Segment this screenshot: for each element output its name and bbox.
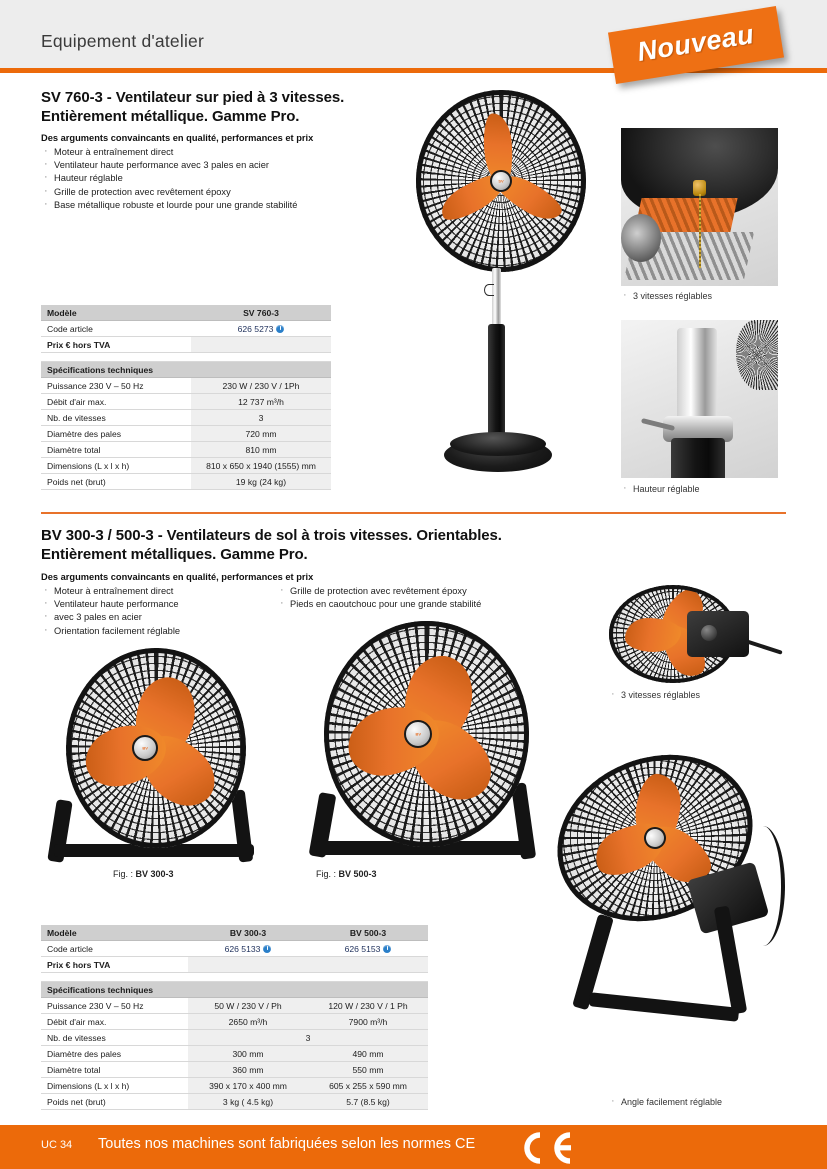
row-value: 360 mm xyxy=(188,1062,308,1078)
row-label: Puissance 230 V – 50 Hz xyxy=(41,998,188,1014)
row-value: 7900 m³/h xyxy=(308,1014,428,1030)
new-badge: Nouveau xyxy=(603,5,788,83)
row-value-price-2 xyxy=(308,957,428,973)
product-2-detail-caption-1: 3 vitesses réglables xyxy=(609,690,700,700)
info-icon[interactable] xyxy=(263,945,271,953)
table-header-model-1: BV 300-3 xyxy=(188,925,308,941)
row-label: Poids net (brut) xyxy=(41,1094,188,1110)
product-2-bullet-list-left: Moteur à entraînement direct Ventilateur… xyxy=(41,585,271,638)
list-item: Ventilateur haute performance avec 3 pal… xyxy=(41,159,391,172)
section-divider xyxy=(41,512,786,514)
table-row: Diamètre total 360 mm 550 mm xyxy=(41,1062,428,1078)
row-label: Diamètre des pales xyxy=(41,426,191,442)
fig-name: BV 300-3 xyxy=(136,869,174,879)
product-1-title-line1: SV 760-3 - Ventilateur sur pied à 3 vite… xyxy=(41,88,381,107)
row-value: 720 mm xyxy=(191,426,331,442)
product-1-bullet-list: Moteur à entraînement direct Ventilateur… xyxy=(41,146,391,212)
page-title: Equipement d'atelier xyxy=(41,31,204,52)
info-icon[interactable] xyxy=(276,325,284,333)
row-label: Puissance 230 V – 50 Hz xyxy=(41,378,191,394)
table-row: Code article 626 5273 xyxy=(41,321,331,337)
row-label-code: Code article xyxy=(41,941,188,957)
row-value: 19 kg (24 kg) xyxy=(191,474,331,490)
specs-heading-spacer-1 xyxy=(188,982,308,998)
table-header-label: Modèle xyxy=(41,925,188,941)
product-1-detail-photo-speed xyxy=(621,128,778,286)
table-row: Nb. de vitesses 3 xyxy=(41,1030,428,1046)
article-code: 626 5153 xyxy=(345,944,381,954)
product-2-fig-caption-1: Fig. : BV 300-3 xyxy=(113,869,174,879)
table-row: Diamètre des pales 300 mm 490 mm xyxy=(41,1046,428,1062)
list-item: Orientation facilement réglable xyxy=(41,625,271,638)
catalog-page: Equipement d'atelier Nouveau SV 760-3 - … xyxy=(0,0,827,1169)
table-row: Puissance 230 V – 50 Hz 50 W / 230 V / P… xyxy=(41,998,428,1014)
fig-prefix: Fig. : xyxy=(113,869,136,879)
table-row-spacer xyxy=(41,353,331,362)
row-label: Poids net (brut) xyxy=(41,474,191,490)
row-value: 120 W / 230 V / 1 Ph xyxy=(308,998,428,1014)
row-label: Nb. de vitesses xyxy=(41,1030,188,1046)
row-value: 50 W / 230 V / Ph xyxy=(188,998,308,1014)
row-label: Nb. de vitesses xyxy=(41,410,191,426)
table-row: Modèle SV 760-3 xyxy=(41,305,331,321)
row-value-price-1 xyxy=(191,337,331,353)
list-item: Grille de protection avec revêtement épo… xyxy=(41,186,391,199)
row-label: Débit d'air max. xyxy=(41,1014,188,1030)
list-item-continuation: avec 3 pales en acier xyxy=(41,611,271,624)
list-item: Moteur à entraînement direct xyxy=(41,585,271,598)
row-value: 605 x 255 x 590 mm xyxy=(308,1078,428,1094)
new-badge-label: Nouveau xyxy=(609,15,782,72)
specs-heading-spacer xyxy=(191,362,331,378)
row-value: 810 mm xyxy=(191,442,331,458)
info-icon[interactable] xyxy=(383,945,391,953)
table-row: Code article 626 5133 626 5153 xyxy=(41,941,428,957)
article-code: 626 5133 xyxy=(225,944,261,954)
row-value: 2650 m³/h xyxy=(188,1014,308,1030)
table-row: Poids net (brut) 3 kg ( 4.5 kg) 5.7 (8.5… xyxy=(41,1094,428,1110)
product-2-fig-caption-2: Fig. : BV 500-3 xyxy=(316,869,377,879)
ce-mark-icon xyxy=(518,1131,574,1169)
specs-heading: Spécifications techniques xyxy=(41,362,191,378)
table-row: Diamètre des pales 720 mm xyxy=(41,426,331,442)
product-2-spec-table: Modèle BV 300-3 BV 500-3 Code article 62… xyxy=(41,925,428,1110)
row-value: 550 mm xyxy=(308,1062,428,1078)
row-value: 230 W / 230 V / 1Ph xyxy=(191,378,331,394)
new-badge-banner: Nouveau xyxy=(608,6,784,84)
list-item: Ventilateur haute performance xyxy=(41,598,271,611)
list-item: Grille de protection avec revêtement épo… xyxy=(277,585,577,598)
product-1-detail-caption-1: 3 vitesses réglables xyxy=(621,291,712,301)
row-value-price-1 xyxy=(188,957,308,973)
table-row: Modèle BV 300-3 BV 500-3 xyxy=(41,925,428,941)
table-row: Poids net (brut) 19 kg (24 kg) xyxy=(41,474,331,490)
list-item: Base métallique robuste et lourde pour u… xyxy=(41,199,391,212)
list-item: Moteur à entraînement direct xyxy=(41,146,391,159)
list-item: Pieds en caoutchouc pour une grande stab… xyxy=(277,598,577,611)
row-value: 300 mm xyxy=(188,1046,308,1062)
row-value-merged: 3 xyxy=(188,1030,428,1046)
row-label-price: Prix € hors TVA xyxy=(41,337,191,353)
product-1-photo-pedestal-fan: SV xyxy=(408,86,594,506)
product-2-title: BV 300-3 / 500-3 - Ventilateurs de sol à… xyxy=(41,526,561,564)
product-1-title-line2: Entièrement métallique. Gamme Pro. xyxy=(41,107,381,126)
table-header-model-2: BV 500-3 xyxy=(308,925,428,941)
row-value-code-2: 626 5153 xyxy=(308,941,428,957)
row-label: Dimensions (L x l x h) xyxy=(41,458,191,474)
table-row-spacer xyxy=(41,973,428,982)
product-2-args-heading: Des arguments convaincants en qualité, p… xyxy=(41,572,313,582)
row-label-code: Code article xyxy=(41,321,191,337)
row-value: 12 737 m³/h xyxy=(191,394,331,410)
fig-name: BV 500-3 xyxy=(339,869,377,879)
row-value: 5.7 (8.5 kg) xyxy=(308,1094,428,1110)
table-header-model-1: SV 760-3 xyxy=(191,305,331,321)
row-label: Débit d'air max. xyxy=(41,394,191,410)
table-row: Débit d'air max. 12 737 m³/h xyxy=(41,394,331,410)
row-value-code-1: 626 5273 xyxy=(191,321,331,337)
product-2-title-line2: Entièrement métalliques. Gamme Pro. xyxy=(41,545,561,564)
table-row: Prix € hors TVA xyxy=(41,957,428,973)
table-row: Dimensions (L x l x h) 810 x 650 x 1940 … xyxy=(41,458,331,474)
list-item: Hauteur réglable xyxy=(41,172,391,185)
row-label-price: Prix € hors TVA xyxy=(41,957,188,973)
footer-text: Toutes nos machines sont fabriquées selo… xyxy=(98,1136,475,1152)
row-value: 810 x 650 x 1940 (1555) mm xyxy=(191,458,331,474)
row-value: 3 xyxy=(191,410,331,426)
product-2-detail-photo-speed xyxy=(609,585,784,683)
fig-prefix: Fig. : xyxy=(316,869,339,879)
row-label: Diamètre des pales xyxy=(41,1046,188,1062)
table-row: Prix € hors TVA xyxy=(41,337,331,353)
row-value: 490 mm xyxy=(308,1046,428,1062)
product-2-detail-caption-2: Angle facilement réglable xyxy=(609,1097,722,1107)
table-row: Diamètre total 810 mm xyxy=(41,442,331,458)
table-row: Spécifications techniques xyxy=(41,982,428,998)
article-code: 626 5273 xyxy=(238,324,274,334)
table-row: Dimensions (L x l x h) 390 x 170 x 400 m… xyxy=(41,1078,428,1094)
table-header-label: Modèle xyxy=(41,305,191,321)
product-1-detail-photo-height xyxy=(621,320,778,478)
row-value: 3 kg ( 4.5 kg) xyxy=(188,1094,308,1110)
row-value: 390 x 170 x 400 mm xyxy=(188,1078,308,1094)
table-row: Spécifications techniques xyxy=(41,362,331,378)
row-label: Diamètre total xyxy=(41,442,191,458)
footer-bar: UC 34 Toutes nos machines sont fabriquée… xyxy=(0,1125,827,1169)
table-row: Débit d'air max. 2650 m³/h 7900 m³/h xyxy=(41,1014,428,1030)
product-2-photo-bv500: BV xyxy=(300,615,570,870)
product-2-detail-photo-angle xyxy=(545,718,785,1086)
product-2-title-line1: BV 300-3 / 500-3 - Ventilateurs de sol à… xyxy=(41,526,561,545)
product-2-photo-bv300: BV xyxy=(40,640,290,870)
table-row: Nb. de vitesses 3 xyxy=(41,410,331,426)
product-1-spec-table: Modèle SV 760-3 Code article 626 5273 Pr… xyxy=(41,305,331,490)
product-1-title: SV 760-3 - Ventilateur sur pied à 3 vite… xyxy=(41,88,381,126)
page-number: UC 34 xyxy=(41,1139,72,1151)
product-1-args-heading: Des arguments convaincants en qualité, p… xyxy=(41,133,313,143)
row-value-code-1: 626 5133 xyxy=(188,941,308,957)
product-1-detail-caption-2: Hauteur réglable xyxy=(621,484,700,494)
row-label: Dimensions (L x l x h) xyxy=(41,1078,188,1094)
product-2-bullet-list-right: Grille de protection avec revêtement épo… xyxy=(277,585,577,611)
specs-heading-spacer-2 xyxy=(308,982,428,998)
specs-heading: Spécifications techniques xyxy=(41,982,188,998)
table-row: Puissance 230 V – 50 Hz 230 W / 230 V / … xyxy=(41,378,331,394)
row-label: Diamètre total xyxy=(41,1062,188,1078)
